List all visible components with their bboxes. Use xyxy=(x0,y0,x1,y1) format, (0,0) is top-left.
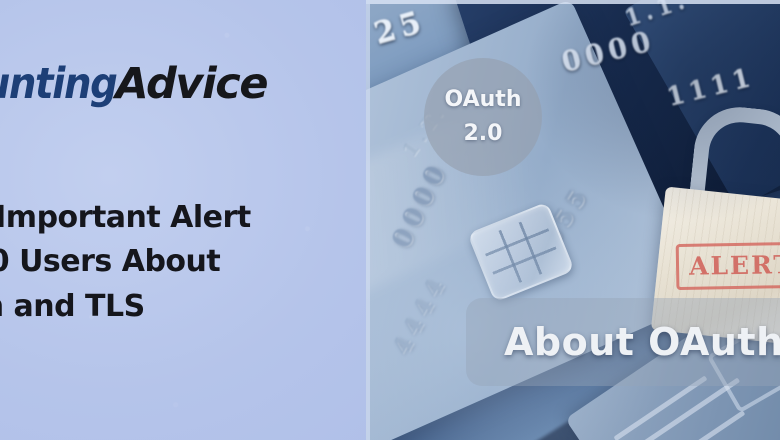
about-oauth-label: About OAuth xyxy=(504,320,780,364)
site-logo[interactable]: countingAdvice xyxy=(0,63,267,106)
photo-top-edge xyxy=(366,0,780,4)
headline-line-2: 100 Users About xyxy=(0,240,366,284)
embossed-number-1: 25 xyxy=(370,4,429,52)
photo-left-edge xyxy=(366,0,370,440)
oauth-version-badge: OAuth 2.0 xyxy=(424,58,542,176)
headline-line-1: es Important Alert xyxy=(0,196,366,240)
logo-text-secondary: Advice xyxy=(115,59,267,109)
oauth-badge-line-2: 2.0 xyxy=(464,117,503,151)
oauth-badge-line-1: OAuth xyxy=(445,83,522,117)
about-oauth-banner: About OAuth xyxy=(466,298,780,386)
left-text-panel: countingAdvice es Important Alert 100 Us… xyxy=(0,0,366,440)
photo-panel: 25 0000 1111 1.1. 1.T. 0000 5555 4444 AL… xyxy=(366,0,780,440)
article-banner: countingAdvice es Important Alert 100 Us… xyxy=(0,0,780,440)
alert-stamp: ALERT xyxy=(676,242,780,290)
headline-line-3: uth and TLS xyxy=(0,285,366,329)
card-detail-line xyxy=(668,410,745,440)
headline: es Important Alert 100 Users About uth a… xyxy=(0,196,366,329)
logo-text-primary: counting xyxy=(0,59,116,109)
